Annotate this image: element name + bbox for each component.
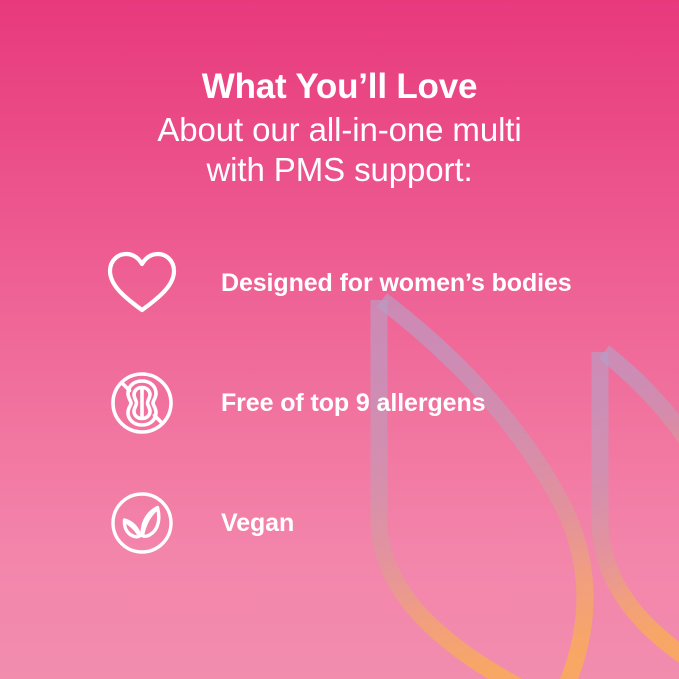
feature-item: Designed for women’s bodies [104, 245, 644, 321]
promo-card: What You’ll Love About our all-in-one mu… [0, 0, 679, 679]
heart-icon [104, 245, 180, 321]
feature-label: Vegan [221, 508, 294, 538]
feature-item: Vegan [104, 485, 644, 561]
vegan-leaf-icon [104, 485, 180, 561]
feature-label: Designed for women’s bodies [221, 268, 572, 298]
page-subtitle-line-1: About our all-in-one multi [0, 110, 679, 150]
headline-block: What You’ll Love About our all-in-one mu… [0, 66, 679, 190]
page-subtitle-line-2: with PMS support: [0, 150, 679, 190]
feature-item: Free of top 9 allergens [104, 365, 644, 441]
page-subtitle: About our all-in-one multi with PMS supp… [0, 108, 679, 190]
no-peanut-allergen-icon [104, 365, 180, 441]
page-title: What You’ll Love [0, 66, 679, 108]
feature-label: Free of top 9 allergens [221, 388, 485, 418]
